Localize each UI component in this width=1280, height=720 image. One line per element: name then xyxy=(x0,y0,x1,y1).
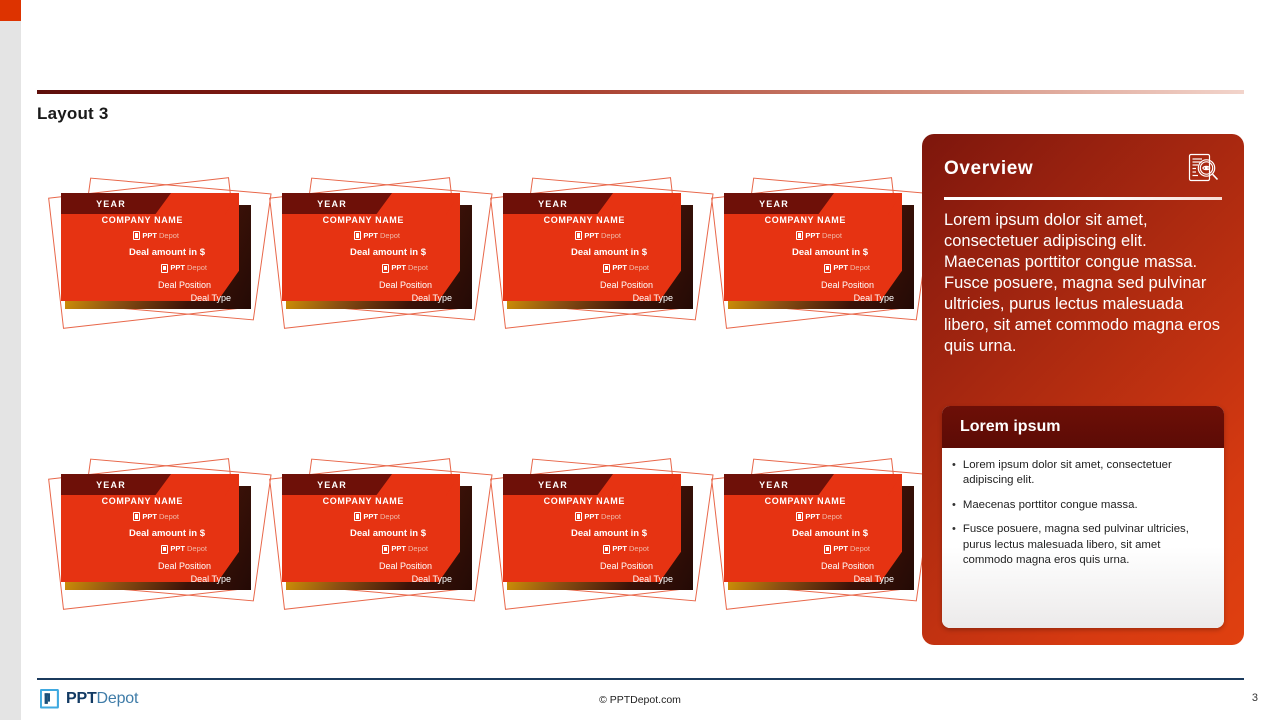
watermark-light: Depot xyxy=(822,232,842,240)
card-company-name: COMPANY NAME xyxy=(765,497,846,506)
card-watermark: PPTDepot xyxy=(824,264,870,273)
card-watermark-row-2: PPTDepot xyxy=(382,542,428,558)
lorem-ipsum-card-title: Lorem ipsum xyxy=(960,418,1060,436)
watermark-light: Depot xyxy=(159,513,179,521)
watermark-light: Depot xyxy=(408,264,428,272)
page-title: Layout 3 xyxy=(37,104,109,124)
watermark-light: Depot xyxy=(408,545,428,553)
pptdepot-mark-icon xyxy=(161,264,168,273)
card-year-tab: YEAR xyxy=(282,474,392,495)
overview-panel: Overview Lorem ipsum d xyxy=(922,134,1244,645)
card-year-label: YEAR xyxy=(96,199,136,209)
card-deal-type: Deal Type xyxy=(412,575,452,584)
document-search-icon xyxy=(1186,152,1222,188)
card-watermark-row-2: PPTDepot xyxy=(161,261,207,277)
card-deal-position: Deal Position xyxy=(158,281,211,290)
card-content: COMPANY NAMEPPTDepotDeal amount in $PPTD… xyxy=(503,215,681,297)
card-year-tab: YEAR xyxy=(282,193,392,214)
overview-title: Overview xyxy=(944,158,1033,180)
pptdepot-mark-icon xyxy=(603,545,610,554)
pptdepot-mark-icon xyxy=(603,264,610,273)
lorem-ipsum-bullet-list: •Lorem ipsum dolor sit amet, consectetue… xyxy=(942,448,1224,628)
watermark-bold: PPT xyxy=(391,545,406,553)
deal-card[interactable]: YEARCOMPANY NAMEPPTDepotDeal amount in $… xyxy=(274,464,484,604)
watermark-light: Depot xyxy=(850,545,870,553)
card-company-name: COMPANY NAME xyxy=(102,497,183,506)
card-deal-type: Deal Type xyxy=(412,294,452,303)
card-watermark-row-2: PPTDepot xyxy=(161,542,207,558)
overview-body-text: Lorem ipsum dolor sit amet, consectetuer… xyxy=(944,210,1222,358)
card-year-tab: YEAR xyxy=(61,193,171,214)
watermark-bold: PPT xyxy=(612,545,627,553)
watermark-bold: PPT xyxy=(170,264,185,272)
card-watermark: PPTDepot xyxy=(133,512,179,521)
bullet-glyph: • xyxy=(952,458,956,489)
pptdepot-mark-icon xyxy=(161,545,168,554)
card-watermark: PPTDepot xyxy=(133,231,179,240)
card-watermark: PPTDepot xyxy=(575,512,621,521)
watermark-bold: PPT xyxy=(363,513,378,521)
watermark-light: Depot xyxy=(822,513,842,521)
watermark-light: Depot xyxy=(601,513,621,521)
card-company-name: COMPANY NAME xyxy=(544,497,625,506)
card-watermark-row-1: PPTDepot xyxy=(133,228,179,244)
card-content: COMPANY NAMEPPTDepotDeal amount in $PPTD… xyxy=(724,215,902,297)
watermark-bold: PPT xyxy=(833,545,848,553)
card-year-label: YEAR xyxy=(317,480,357,490)
card-company-name: COMPANY NAME xyxy=(102,216,183,225)
card-watermark: PPTDepot xyxy=(382,264,428,273)
bullet-text: Maecenas porttitor congue massa. xyxy=(963,498,1138,513)
deal-card[interactable]: YEARCOMPANY NAMEPPTDepotDeal amount in $… xyxy=(53,464,263,604)
card-company-name: COMPANY NAME xyxy=(765,216,846,225)
pptdepot-mark-icon xyxy=(133,512,140,521)
card-deal-amount: Deal amount in $ xyxy=(571,529,647,539)
card-watermark-row-2: PPTDepot xyxy=(603,542,649,558)
watermark-bold: PPT xyxy=(833,264,848,272)
card-year-label: YEAR xyxy=(538,480,578,490)
card-year-tab: YEAR xyxy=(724,193,834,214)
watermark-light: Depot xyxy=(601,232,621,240)
card-content: COMPANY NAMEPPTDepotDeal amount in $PPTD… xyxy=(61,496,239,578)
card-deal-type: Deal Type xyxy=(854,575,894,584)
card-watermark-row-1: PPTDepot xyxy=(796,228,842,244)
pptdepot-mark-icon xyxy=(575,512,582,521)
watermark-bold: PPT xyxy=(612,264,627,272)
card-deal-position: Deal Position xyxy=(379,562,432,571)
card-watermark: PPTDepot xyxy=(796,512,842,521)
card-content: COMPANY NAMEPPTDepotDeal amount in $PPTD… xyxy=(61,215,239,297)
bullet-glyph: • xyxy=(952,498,956,513)
overview-header: Overview xyxy=(944,158,1222,188)
card-watermark-row-2: PPTDepot xyxy=(824,542,870,558)
card-deal-position: Deal Position xyxy=(600,281,653,290)
card-deal-amount: Deal amount in $ xyxy=(792,248,868,258)
watermark-light: Depot xyxy=(380,232,400,240)
pptdepot-mark-icon xyxy=(796,231,803,240)
card-watermark-row-1: PPTDepot xyxy=(575,228,621,244)
card-deal-position: Deal Position xyxy=(821,281,874,290)
card-watermark: PPTDepot xyxy=(603,545,649,554)
bullet-item: •Fusce posuere, magna sed pulvinar ultri… xyxy=(952,522,1210,568)
card-content: COMPANY NAMEPPTDepotDeal amount in $PPTD… xyxy=(282,496,460,578)
watermark-bold: PPT xyxy=(584,232,599,240)
left-accent-band xyxy=(0,0,21,720)
card-deal-position: Deal Position xyxy=(600,562,653,571)
pptdepot-mark-icon xyxy=(354,231,361,240)
card-content: COMPANY NAMEPPTDepotDeal amount in $PPTD… xyxy=(282,215,460,297)
card-company-name: COMPANY NAME xyxy=(544,216,625,225)
pptdepot-mark-icon xyxy=(354,512,361,521)
card-deal-type: Deal Type xyxy=(191,575,231,584)
pptdepot-mark-icon xyxy=(796,512,803,521)
watermark-light: Depot xyxy=(629,264,649,272)
watermark-bold: PPT xyxy=(805,232,820,240)
page-number: 3 xyxy=(1252,692,1258,704)
pptdepot-mark-icon xyxy=(575,231,582,240)
deal-card[interactable]: YEARCOMPANY NAMEPPTDepotDeal amount in $… xyxy=(53,183,263,323)
card-watermark: PPTDepot xyxy=(603,264,649,273)
bullet-item: •Lorem ipsum dolor sit amet, consectetue… xyxy=(952,458,1210,489)
card-deal-type: Deal Type xyxy=(633,294,673,303)
watermark-light: Depot xyxy=(159,232,179,240)
deal-card[interactable]: YEARCOMPANY NAMEPPTDepotDeal amount in $… xyxy=(495,183,705,323)
watermark-bold: PPT xyxy=(170,545,185,553)
card-watermark-row-2: PPTDepot xyxy=(382,261,428,277)
card-watermark-row-1: PPTDepot xyxy=(133,509,179,525)
lorem-ipsum-card-header: Lorem ipsum xyxy=(942,406,1224,448)
bullet-text: Fusce posuere, magna sed pulvinar ultric… xyxy=(963,522,1210,568)
bullet-glyph: • xyxy=(952,522,956,568)
pptdepot-mark-icon xyxy=(133,231,140,240)
pptdepot-mark-icon xyxy=(382,545,389,554)
watermark-light: Depot xyxy=(187,545,207,553)
card-watermark: PPTDepot xyxy=(354,231,400,240)
card-year-label: YEAR xyxy=(317,199,357,209)
card-deal-type: Deal Type xyxy=(633,575,673,584)
card-year-tab: YEAR xyxy=(503,193,613,214)
card-deal-amount: Deal amount in $ xyxy=(129,529,205,539)
watermark-bold: PPT xyxy=(142,513,157,521)
deal-card[interactable]: YEARCOMPANY NAMEPPTDepotDeal amount in $… xyxy=(716,464,926,604)
watermark-light: Depot xyxy=(850,264,870,272)
card-watermark-row-1: PPTDepot xyxy=(796,509,842,525)
deal-card[interactable]: YEARCOMPANY NAMEPPTDepotDeal amount in $… xyxy=(274,183,484,323)
watermark-light: Depot xyxy=(187,264,207,272)
card-year-label: YEAR xyxy=(759,199,799,209)
card-deal-position: Deal Position xyxy=(379,281,432,290)
card-watermark: PPTDepot xyxy=(161,545,207,554)
card-watermark: PPTDepot xyxy=(575,231,621,240)
watermark-bold: PPT xyxy=(584,513,599,521)
pptdepot-mark-icon xyxy=(824,545,831,554)
card-year-tab: YEAR xyxy=(61,474,171,495)
card-content: COMPANY NAMEPPTDepotDeal amount in $PPTD… xyxy=(724,496,902,578)
card-deal-type: Deal Type xyxy=(854,294,894,303)
deal-card[interactable]: YEARCOMPANY NAMEPPTDepotDeal amount in $… xyxy=(716,183,926,323)
card-year-tab: YEAR xyxy=(503,474,613,495)
copyright-text: © PPTDepot.com xyxy=(0,694,1280,706)
card-watermark: PPTDepot xyxy=(796,231,842,240)
card-deal-amount: Deal amount in $ xyxy=(792,529,868,539)
card-watermark: PPTDepot xyxy=(161,264,207,273)
bullet-item: •Maecenas porttitor congue massa. xyxy=(952,498,1210,513)
slide-canvas: Layout 3 YEARCOMPANY NAMEPPTDepotDeal am… xyxy=(0,0,1280,720)
card-deal-amount: Deal amount in $ xyxy=(571,248,647,258)
card-year-label: YEAR xyxy=(759,480,799,490)
card-watermark-row-2: PPTDepot xyxy=(603,261,649,277)
pptdepot-mark-icon xyxy=(382,264,389,273)
card-watermark: PPTDepot xyxy=(824,545,870,554)
card-watermark-row-1: PPTDepot xyxy=(575,509,621,525)
corner-accent-block xyxy=(0,0,21,21)
card-year-label: YEAR xyxy=(538,199,578,209)
header-divider xyxy=(37,90,1244,94)
overview-underline xyxy=(944,197,1222,200)
watermark-bold: PPT xyxy=(142,232,157,240)
card-deal-amount: Deal amount in $ xyxy=(350,529,426,539)
card-watermark-row-1: PPTDepot xyxy=(354,509,400,525)
card-year-tab: YEAR xyxy=(724,474,834,495)
watermark-light: Depot xyxy=(380,513,400,521)
watermark-bold: PPT xyxy=(805,513,820,521)
watermark-light: Depot xyxy=(629,545,649,553)
watermark-bold: PPT xyxy=(363,232,378,240)
card-watermark: PPTDepot xyxy=(354,512,400,521)
card-deal-amount: Deal amount in $ xyxy=(129,248,205,258)
footer-divider xyxy=(37,678,1244,680)
pptdepot-mark-icon xyxy=(824,264,831,273)
card-deal-position: Deal Position xyxy=(821,562,874,571)
bullet-text: Lorem ipsum dolor sit amet, consectetuer… xyxy=(963,458,1210,489)
card-watermark-row-1: PPTDepot xyxy=(354,228,400,244)
card-company-name: COMPANY NAME xyxy=(323,216,404,225)
card-year-label: YEAR xyxy=(96,480,136,490)
card-company-name: COMPANY NAME xyxy=(323,497,404,506)
watermark-bold: PPT xyxy=(391,264,406,272)
lorem-ipsum-card: Lorem ipsum •Lorem ipsum dolor sit amet,… xyxy=(942,406,1224,628)
card-deal-type: Deal Type xyxy=(191,294,231,303)
card-content: COMPANY NAMEPPTDepotDeal amount in $PPTD… xyxy=(503,496,681,578)
card-watermark-row-2: PPTDepot xyxy=(824,261,870,277)
card-watermark: PPTDepot xyxy=(382,545,428,554)
deal-card[interactable]: YEARCOMPANY NAMEPPTDepotDeal amount in $… xyxy=(495,464,705,604)
card-deal-position: Deal Position xyxy=(158,562,211,571)
card-deal-amount: Deal amount in $ xyxy=(350,248,426,258)
